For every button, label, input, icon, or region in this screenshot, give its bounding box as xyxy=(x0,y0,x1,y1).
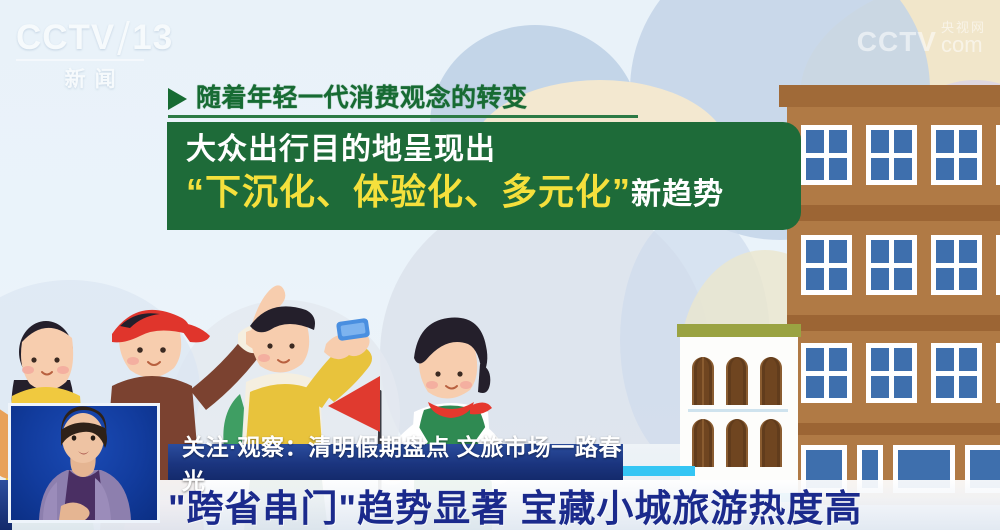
arched-window xyxy=(760,419,782,467)
window xyxy=(866,343,917,403)
brown-apartment-block xyxy=(787,85,1000,505)
window xyxy=(931,235,982,295)
channel-logo: CCTV 13 新闻 xyxy=(16,18,173,93)
arched-window xyxy=(726,419,748,467)
kicker-text: 随着年轻一代消费观念的转变 xyxy=(196,86,528,111)
watermark-com: com xyxy=(941,34,983,56)
window xyxy=(801,343,852,403)
logo-slash-divider xyxy=(117,21,130,55)
channel-logo-number: 13 xyxy=(132,18,173,58)
building-roof xyxy=(677,324,801,337)
window xyxy=(801,125,852,185)
callout-highlight: “下沉化、体验化、多元化” xyxy=(186,171,631,212)
kicker-line: 随着年轻一代消费观念的转变 xyxy=(168,86,528,111)
window xyxy=(931,343,982,403)
accent-bar xyxy=(623,466,695,476)
window xyxy=(931,125,982,185)
channel-logo-main: CCTV xyxy=(16,18,115,58)
window xyxy=(996,343,1000,403)
headline-text: "跨省串门"趋势显著 宝藏小城旅游热度高 xyxy=(168,482,988,528)
window xyxy=(801,235,852,295)
callout-line-1: 大众出行目的地呈现出 xyxy=(186,131,801,168)
anchor-figure xyxy=(11,406,157,520)
callout-line-2: “下沉化、体验化、多元化”新趋势 xyxy=(186,170,801,213)
play-triangle-icon xyxy=(168,88,187,110)
callout-tail: 新趋势 xyxy=(631,178,724,211)
broadcast-frame: CCTV 13 新闻 CCTV 央视网 com 随着年轻一代消费观念的转变 大众… xyxy=(0,0,1000,530)
window xyxy=(866,235,917,295)
topic-bar: 关注·观察：清明假期盘点 文旅市场一路春光 xyxy=(168,444,623,480)
news-anchor-pip xyxy=(8,403,160,523)
topic-callout-box: 大众出行目的地呈现出 “下沉化、体验化、多元化”新趋势 xyxy=(167,122,801,230)
arched-window xyxy=(726,357,748,405)
window xyxy=(996,125,1000,185)
building-cornice xyxy=(779,85,1000,107)
logo-underline xyxy=(16,59,144,61)
window xyxy=(996,235,1000,295)
watermark-main: CCTV xyxy=(857,28,937,56)
cctv-com-watermark: CCTV 央视网 com xyxy=(857,20,986,56)
window xyxy=(866,125,917,185)
channel-logo-sub: 新闻 xyxy=(16,63,173,93)
arched-window xyxy=(760,357,782,405)
kicker-underline xyxy=(168,115,638,118)
